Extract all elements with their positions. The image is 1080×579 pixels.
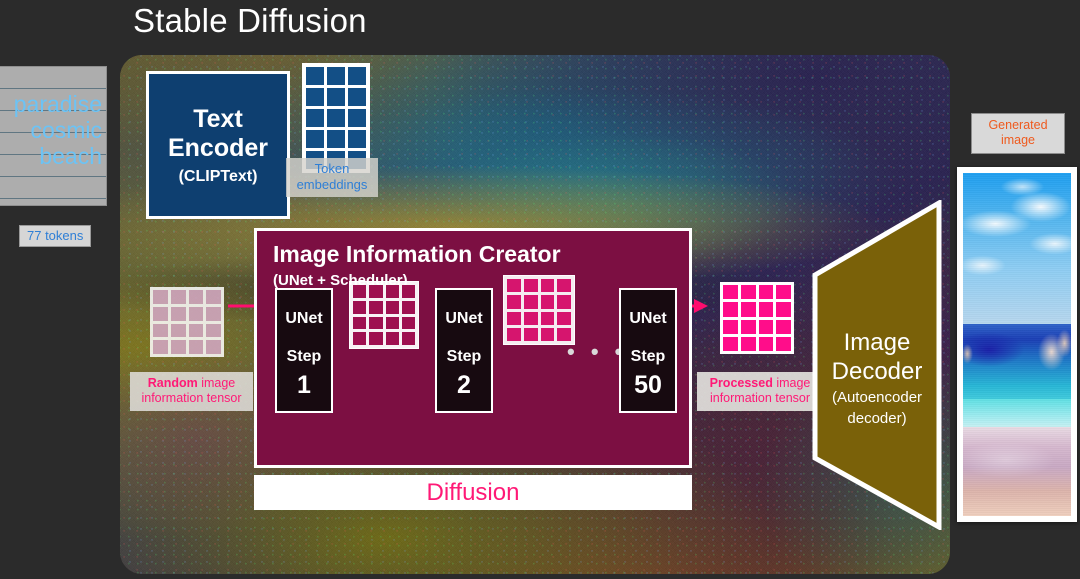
generated-image-badge-line1: Generated bbox=[974, 118, 1062, 133]
image-decoder-text: Image Decoder (Autoencoder decoder) bbox=[812, 328, 942, 428]
token-embeddings-label-line2: embeddings bbox=[288, 177, 376, 193]
random-tensor-grid bbox=[150, 287, 224, 357]
token-embeddings-label: Token embeddings bbox=[286, 158, 378, 197]
generated-image-badge-line2: image bbox=[974, 133, 1062, 148]
random-tensor-label-line2: information tensor bbox=[133, 391, 250, 406]
random-tensor-label-line1: Random image bbox=[133, 376, 250, 391]
tensor-after-step-1 bbox=[349, 281, 419, 349]
diffusion-label-bar: Diffusion bbox=[254, 475, 692, 510]
processed-tensor-grid bbox=[720, 282, 794, 354]
unet-step-1-label1: UNet bbox=[277, 309, 331, 328]
processed-tensor-label-line1: Processed image bbox=[700, 376, 820, 391]
unet-step-2-label2: Step bbox=[437, 347, 491, 366]
unet-step-50-number: 50 bbox=[621, 372, 675, 399]
processed-tensor-label-bold: Processed bbox=[710, 376, 773, 390]
unet-step-2: UNet Step 2 bbox=[435, 288, 493, 413]
unet-step-2-number: 2 bbox=[437, 372, 491, 399]
image-decoder-title-line1: Image bbox=[812, 328, 942, 357]
token-count-badge: 77 tokens bbox=[19, 225, 91, 247]
tensor-after-step-2 bbox=[503, 275, 575, 345]
diffusion-label: Diffusion bbox=[427, 479, 520, 507]
generated-image-grain bbox=[963, 173, 1071, 516]
processed-tensor-label-line2: information tensor bbox=[700, 391, 820, 406]
iic-title: Image Information Creator bbox=[273, 241, 561, 268]
text-encoder-box: Text Encoder (CLIPText) bbox=[146, 71, 290, 219]
unet-step-50-label2: Step bbox=[621, 347, 675, 366]
unet-step-50: UNet Step 50 bbox=[619, 288, 677, 413]
generated-image-badge: Generated image bbox=[971, 113, 1065, 154]
prompt-text: paradise cosmic beach bbox=[0, 91, 102, 169]
random-tensor-label-rest: image bbox=[198, 376, 236, 390]
processed-tensor-label-rest: image bbox=[773, 376, 811, 390]
unet-step-1: UNet Step 1 bbox=[275, 288, 333, 413]
unet-step-1-number: 1 bbox=[277, 372, 331, 399]
image-decoder-sub-line2: decoder) bbox=[812, 410, 942, 428]
unet-step-50-label1: UNet bbox=[621, 309, 675, 328]
image-decoder-title-line2: Decoder bbox=[812, 357, 942, 386]
image-decoder-shape: Image Decoder (Autoencoder decoder) bbox=[812, 200, 942, 530]
page-title: Stable Diffusion bbox=[133, 2, 367, 40]
processed-tensor-label: Processed image information tensor bbox=[697, 372, 823, 411]
text-encoder-title-line2: Encoder bbox=[168, 134, 268, 163]
random-tensor-label: Random image information tensor bbox=[130, 372, 253, 411]
prompt-notepad: paradise cosmic beach bbox=[0, 66, 107, 206]
generated-image-frame bbox=[957, 167, 1077, 522]
text-encoder-title-line1: Text bbox=[193, 105, 243, 134]
main-panel: Text Encoder (CLIPText) Token embeddings… bbox=[120, 55, 950, 574]
token-embeddings-grid bbox=[302, 63, 370, 173]
unet-step-1-label2: Step bbox=[277, 347, 331, 366]
token-embeddings-label-line1: Token bbox=[288, 161, 376, 177]
diagram-canvas: Stable Diffusion paradise cosmic beach 7… bbox=[0, 0, 1080, 579]
random-tensor-label-bold: Random bbox=[148, 376, 198, 390]
text-encoder-subtitle: (CLIPText) bbox=[179, 168, 258, 186]
image-decoder-sub-line1: (Autoencoder bbox=[812, 389, 942, 407]
image-information-creator-box: Image Information Creator (UNet + Schedu… bbox=[254, 228, 692, 468]
generated-image bbox=[963, 173, 1071, 516]
unet-step-2-label1: UNet bbox=[437, 309, 491, 328]
